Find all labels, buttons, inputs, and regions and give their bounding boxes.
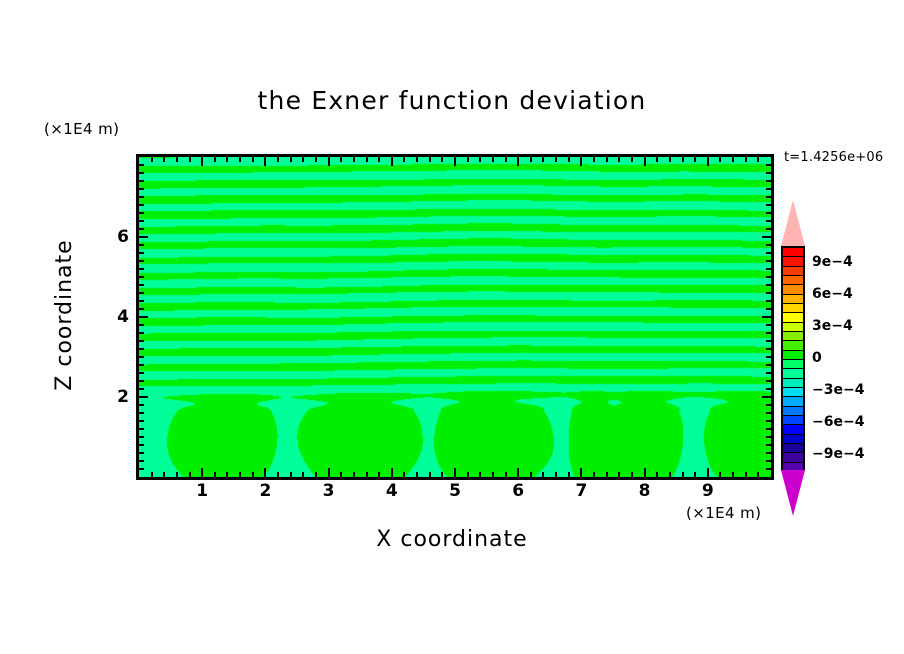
x-axis-tick xyxy=(201,157,203,166)
y-axis-tick xyxy=(139,228,144,230)
colorbar-band xyxy=(783,369,803,378)
x-axis-tick xyxy=(176,472,178,477)
x-axis-tick xyxy=(631,157,633,162)
y-axis-tick xyxy=(766,268,771,270)
y-axis-tick xyxy=(766,452,771,454)
x-axis-tick xyxy=(151,157,153,162)
y-axis-tick xyxy=(139,220,144,222)
y-axis-tick xyxy=(766,164,771,166)
x-axis-tick xyxy=(353,472,355,477)
x-axis-tick-label: 8 xyxy=(639,481,651,501)
x-axis-tick-label: 9 xyxy=(702,481,714,501)
x-axis-tick-label: 3 xyxy=(323,481,335,501)
x-axis-tick xyxy=(732,157,734,162)
x-axis-tick xyxy=(163,472,165,477)
x-axis-tick xyxy=(745,157,747,162)
colorbar-band xyxy=(783,444,803,453)
x-axis-tick xyxy=(694,472,696,477)
x-axis-tick xyxy=(441,472,443,477)
x-axis-tick xyxy=(479,157,481,162)
x-axis-tick xyxy=(277,157,279,162)
y-axis-tick-label: 2 xyxy=(105,387,129,407)
y-axis-tick xyxy=(139,316,148,318)
colorbar-band xyxy=(783,341,803,350)
y-axis-tick xyxy=(766,420,771,422)
x-axis-tick-label: 7 xyxy=(575,481,587,501)
time-stamp-label: t=1.4256e+06 xyxy=(784,150,883,165)
y-axis-tick xyxy=(766,412,771,414)
x-axis-tick-label: 1 xyxy=(196,481,208,501)
colorbar-over-arrow xyxy=(781,200,805,246)
y-axis-tick xyxy=(139,460,144,462)
y-axis-tick xyxy=(139,340,144,342)
colorbar-tick-label: −9e−4 xyxy=(812,446,864,462)
x-axis-tick xyxy=(264,468,266,477)
y-axis-tick xyxy=(766,468,771,470)
y-axis-tick xyxy=(766,188,771,190)
y-axis-tick xyxy=(139,260,144,262)
y-axis-tick xyxy=(766,380,771,382)
y-axis-tick xyxy=(139,252,144,254)
x-axis-tick xyxy=(656,472,658,477)
y-axis-tick xyxy=(139,356,144,358)
y-axis-tick xyxy=(766,324,771,326)
y-axis-tick xyxy=(766,428,771,430)
x-axis-tick xyxy=(555,472,557,477)
x-axis-tick xyxy=(163,157,165,162)
y-axis-tick xyxy=(139,348,144,350)
x-axis-tick xyxy=(429,157,431,162)
x-axis-tick xyxy=(315,157,317,162)
x-axis-tick xyxy=(618,157,620,162)
y-axis-unit-label: (×1E4 m) xyxy=(44,120,119,138)
y-axis-tick xyxy=(139,332,144,334)
x-axis-tick xyxy=(555,157,557,162)
y-axis-tick xyxy=(139,452,144,454)
y-axis-tick xyxy=(139,388,144,390)
y-axis-tick xyxy=(139,196,144,198)
x-axis-tick xyxy=(366,157,368,162)
x-axis-tick xyxy=(151,472,153,477)
x-axis-tick xyxy=(353,157,355,162)
x-axis-tick xyxy=(669,157,671,162)
colorbar-band xyxy=(783,453,803,462)
x-axis-tick xyxy=(745,472,747,477)
y-axis-tick xyxy=(139,404,144,406)
x-axis-tick xyxy=(682,157,684,162)
x-axis-tick xyxy=(403,472,405,477)
x-axis-tick xyxy=(176,157,178,162)
colorbar-band xyxy=(783,304,803,313)
y-axis-tick xyxy=(139,396,148,398)
contour-field xyxy=(139,157,771,477)
y-axis-tick xyxy=(766,220,771,222)
x-axis-tick xyxy=(580,468,582,477)
y-axis-tick xyxy=(139,300,144,302)
x-axis-tick xyxy=(644,157,646,166)
x-axis-tick xyxy=(252,157,254,162)
colorbar-bands xyxy=(781,246,805,470)
y-axis-tick xyxy=(766,196,771,198)
y-axis-tick xyxy=(766,332,771,334)
y-axis-tick xyxy=(139,172,144,174)
y-axis-tick xyxy=(139,364,144,366)
colorbar-band xyxy=(783,332,803,341)
x-axis-tick xyxy=(441,157,443,162)
y-axis-tick xyxy=(139,164,144,166)
y-axis-tick xyxy=(766,388,771,390)
x-axis-tick xyxy=(239,472,241,477)
y-axis-title: Z coordinate xyxy=(52,200,77,430)
x-axis-tick xyxy=(682,472,684,477)
x-axis-tick xyxy=(378,157,380,162)
y-axis-tick xyxy=(766,308,771,310)
y-axis-tick xyxy=(139,188,144,190)
contour-plot-area xyxy=(136,154,774,480)
colorbar-band xyxy=(783,313,803,322)
x-axis-tick xyxy=(226,157,228,162)
x-axis-tick xyxy=(454,468,456,477)
x-axis-tick xyxy=(189,472,191,477)
x-axis-tick xyxy=(542,472,544,477)
colorbar-band xyxy=(783,285,803,294)
y-axis-tick-label: 4 xyxy=(105,307,129,327)
x-axis-tick xyxy=(416,472,418,477)
y-axis-tick xyxy=(766,172,771,174)
x-axis-tick xyxy=(290,157,292,162)
x-axis-tick xyxy=(429,472,431,477)
x-axis-tick xyxy=(606,472,608,477)
x-axis-tick xyxy=(467,157,469,162)
y-axis-tick xyxy=(766,436,771,438)
colorbar-band xyxy=(783,407,803,416)
y-axis-tick xyxy=(766,260,771,262)
y-axis-tick xyxy=(139,236,148,238)
x-axis-tick xyxy=(264,157,266,166)
x-axis-tick xyxy=(302,472,304,477)
x-axis-tick xyxy=(366,472,368,477)
colorbar-band xyxy=(783,248,803,257)
y-axis-tick xyxy=(766,276,771,278)
colorbar-under-arrow xyxy=(781,470,805,516)
x-axis-tick xyxy=(707,157,709,166)
page-title: the Exner function deviation xyxy=(0,86,904,115)
y-axis-tick xyxy=(139,444,144,446)
x-axis-tick xyxy=(403,157,405,162)
colorbar-band xyxy=(783,323,803,332)
x-axis-tick-label: 4 xyxy=(386,481,398,501)
x-axis-tick xyxy=(644,468,646,477)
x-axis-tick xyxy=(239,157,241,162)
colorbar-tick-label: 9e−4 xyxy=(812,254,853,270)
y-axis-tick xyxy=(766,292,771,294)
x-axis-tick xyxy=(391,468,393,477)
x-axis-tick xyxy=(302,157,304,162)
y-axis-tick xyxy=(139,276,144,278)
y-axis-tick xyxy=(139,284,144,286)
y-axis-tick xyxy=(766,340,771,342)
y-axis-tick xyxy=(139,244,144,246)
y-axis-tick xyxy=(766,348,771,350)
x-axis-tick xyxy=(757,157,759,162)
x-axis-tick xyxy=(719,157,721,162)
y-axis-tick xyxy=(766,244,771,246)
y-axis-tick xyxy=(139,412,144,414)
x-axis-tick xyxy=(391,157,393,166)
x-axis-tick xyxy=(226,472,228,477)
x-axis-tick xyxy=(593,157,595,162)
colorbar-band xyxy=(783,267,803,276)
y-axis-tick xyxy=(762,396,771,398)
colorbar-band xyxy=(783,351,803,360)
x-axis-tick xyxy=(189,157,191,162)
y-axis-tick xyxy=(766,460,771,462)
x-axis-tick xyxy=(719,472,721,477)
x-axis-tick xyxy=(290,472,292,477)
x-axis-tick xyxy=(568,157,570,162)
colorbar-tick-label: 6e−4 xyxy=(812,286,853,302)
colorbar-tick-label: −3e−4 xyxy=(812,382,864,398)
x-axis-tick xyxy=(631,472,633,477)
x-axis-tick xyxy=(277,472,279,477)
y-axis-tick xyxy=(139,268,144,270)
colorbar-band xyxy=(783,360,803,369)
y-axis-tick xyxy=(766,404,771,406)
y-axis-tick xyxy=(139,380,144,382)
colorbar-band xyxy=(783,425,803,434)
x-axis-tick xyxy=(492,472,494,477)
colorbar-band xyxy=(783,295,803,304)
x-axis-tick xyxy=(580,157,582,166)
colorbar-band xyxy=(783,257,803,266)
x-axis-tick xyxy=(214,472,216,477)
y-axis-tick xyxy=(766,364,771,366)
y-axis-tick xyxy=(139,212,144,214)
x-axis-tick xyxy=(618,472,620,477)
x-axis-tick xyxy=(492,157,494,162)
x-axis-tick xyxy=(252,472,254,477)
x-axis-tick xyxy=(467,472,469,477)
y-axis-tick xyxy=(139,204,144,206)
y-axis-tick-label: 6 xyxy=(105,227,129,247)
y-axis-tick xyxy=(766,356,771,358)
x-axis-tick xyxy=(568,472,570,477)
x-axis-tick-label: 5 xyxy=(449,481,461,501)
x-axis-tick xyxy=(517,468,519,477)
x-axis-tick xyxy=(530,157,532,162)
y-axis-tick xyxy=(139,420,144,422)
colorbar-band xyxy=(783,435,803,444)
y-axis-tick xyxy=(139,324,144,326)
x-axis-tick xyxy=(606,157,608,162)
y-axis-tick xyxy=(766,284,771,286)
x-axis-tick xyxy=(542,157,544,162)
x-axis-tick xyxy=(416,157,418,162)
colorbar-band xyxy=(783,276,803,285)
x-axis-tick xyxy=(707,468,709,477)
y-axis-tick xyxy=(139,428,144,430)
x-axis-tick xyxy=(201,468,203,477)
x-axis-tick xyxy=(732,472,734,477)
colorbar-band xyxy=(783,397,803,406)
colorbar-band xyxy=(783,379,803,388)
y-axis-tick xyxy=(139,372,144,374)
colorbar-band xyxy=(783,416,803,425)
colorbar xyxy=(781,198,805,518)
x-axis-tick xyxy=(593,472,595,477)
x-axis-tick xyxy=(694,157,696,162)
x-axis-tick-label: 6 xyxy=(512,481,524,501)
y-axis-tick xyxy=(766,300,771,302)
x-axis-tick xyxy=(505,472,507,477)
x-axis-tick xyxy=(315,472,317,477)
x-axis-tick xyxy=(669,472,671,477)
x-axis-tick xyxy=(340,157,342,162)
y-axis-tick xyxy=(766,204,771,206)
x-axis-tick xyxy=(378,472,380,477)
x-axis-tick xyxy=(454,157,456,166)
x-axis-tick xyxy=(340,472,342,477)
x-axis-tick xyxy=(757,472,759,477)
y-axis-tick xyxy=(762,316,771,318)
y-axis-tick xyxy=(762,236,771,238)
y-axis-tick xyxy=(766,180,771,182)
y-axis-tick xyxy=(766,372,771,374)
y-axis-tick xyxy=(139,468,144,470)
y-axis-tick xyxy=(766,444,771,446)
y-axis-tick xyxy=(766,252,771,254)
x-axis-tick xyxy=(656,157,658,162)
x-axis-tick xyxy=(328,468,330,477)
x-axis-tick xyxy=(479,472,481,477)
x-axis-tick-label: 2 xyxy=(259,481,271,501)
y-axis-tick xyxy=(139,308,144,310)
colorbar-band xyxy=(783,388,803,397)
x-axis-tick xyxy=(328,157,330,166)
x-axis-tick xyxy=(517,157,519,166)
y-axis-tick xyxy=(766,212,771,214)
x-axis-tick xyxy=(505,157,507,162)
colorbar-tick-label: 3e−4 xyxy=(812,318,853,334)
x-axis-tick xyxy=(530,472,532,477)
colorbar-tick-label: 0 xyxy=(812,350,822,366)
y-axis-tick xyxy=(139,436,144,438)
y-axis-tick xyxy=(766,228,771,230)
x-axis-tick xyxy=(214,157,216,162)
x-axis-unit-label: (×1E4 m) xyxy=(686,504,761,522)
y-axis-tick xyxy=(139,180,144,182)
y-axis-tick xyxy=(139,292,144,294)
colorbar-tick-label: −6e−4 xyxy=(812,414,864,430)
x-axis-title: X coordinate xyxy=(0,527,904,552)
